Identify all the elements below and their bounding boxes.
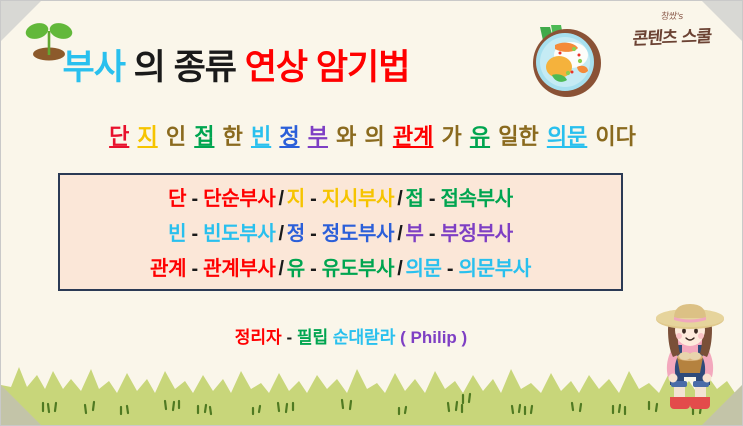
mnemonic-token-10: 관계 <box>392 124 434 149</box>
title-part-method: 연상 암기법 <box>245 48 410 87</box>
mnemonic-token-5: 빈 <box>250 124 272 149</box>
adverb-key: 관계 <box>150 258 186 280</box>
title-part-category: 의 종류 <box>134 48 236 87</box>
row-separator: / <box>276 188 287 210</box>
brand-sublabel: 창쌌's <box>615 9 728 22</box>
adverb-value: 의문부사 <box>459 258 531 280</box>
mnemonic-token-0: 단 <box>108 124 130 149</box>
mnemonic-token-7: 부 <box>307 124 329 149</box>
adverb-key: 부 <box>405 223 423 245</box>
credit-line: 정리자 - 필립 순대랃라 ( Philip ) <box>1 323 701 348</box>
mnemonic-token-2: 인 <box>165 124 187 149</box>
row-separator: / <box>394 223 405 245</box>
adverb-row: 단 - 단순부사/지 - 지시부사/접 - 접속부사 <box>60 182 621 217</box>
adverb-value: 부정부사 <box>440 223 512 245</box>
adverb-dash: - <box>186 258 203 280</box>
credit-name-first: 필립 <box>297 328 328 347</box>
adverb-dash: - <box>424 188 441 210</box>
adverb-dash: - <box>305 258 322 280</box>
slide-canvas: 창쌌's 콘텐츠 스쿨 부사 의 종류 연상 암기법 단 지 인 접 한 빈 정… <box>0 0 743 426</box>
mnemonic-token-4: 한 <box>222 124 244 149</box>
bibimbap-bowl-icon <box>522 15 604 107</box>
credit-dash: - <box>286 328 292 347</box>
adverb-value: 유도부사 <box>322 258 394 280</box>
adverb-dash: - <box>442 258 459 280</box>
credit-name-last: 순대랃라 <box>333 328 396 347</box>
mnemonic-token-13: 일한 <box>497 124 539 149</box>
mnemonic-token-14: 의문 <box>546 124 588 149</box>
corner-fold-bottom-right <box>702 385 742 425</box>
brand-mainlabel: 콘텐츠 스쿨 <box>615 21 730 50</box>
row-separator: / <box>394 258 405 280</box>
mnemonic-token-15: 이다 <box>594 124 636 149</box>
row-separator: / <box>276 258 287 280</box>
adverb-row: 빈 - 빈도부사/정 - 정도부사/부 - 부정부사 <box>60 217 621 252</box>
adverb-value: 지시부사 <box>322 188 394 210</box>
adverb-row: 관계 - 관계부사/유 - 유도부사/의문 - 의문부사 <box>60 252 621 287</box>
mnemonic-sentence: 단 지 인 접 한 빈 정 부 와 의 관계 가 유 일한 의문 이다 <box>1 119 743 151</box>
adverb-key: 접 <box>405 188 423 210</box>
row-separator: / <box>276 223 287 245</box>
adverb-value: 빈도부사 <box>203 223 275 245</box>
adverb-value: 정도부사 <box>322 223 394 245</box>
adverb-type-list-box: 단 - 단순부사/지 - 지시부사/접 - 접속부사빈 - 빈도부사/정 - 정… <box>58 173 623 291</box>
adverb-key: 지 <box>287 188 305 210</box>
adverb-value: 단순부사 <box>203 188 275 210</box>
grass-decoration <box>1 345 743 425</box>
mnemonic-token-3: 접 <box>193 124 215 149</box>
adverb-key: 단 <box>168 188 186 210</box>
adverb-dash: - <box>424 223 441 245</box>
adverb-key: 빈 <box>168 223 186 245</box>
adverb-value: 접속부사 <box>440 188 512 210</box>
mnemonic-token-12: 유 <box>469 124 491 149</box>
brand-logo: 창쌌's 콘텐츠 스쿨 <box>616 9 728 59</box>
mnemonic-token-9: 의 <box>363 124 385 149</box>
adverb-key: 정 <box>287 223 305 245</box>
adverb-dash: - <box>305 223 322 245</box>
mnemonic-token-6: 정 <box>278 124 300 149</box>
adverb-dash: - <box>305 188 322 210</box>
corner-fold-top-left <box>1 1 41 41</box>
credit-alias: ( Philip ) <box>400 328 467 347</box>
mnemonic-token-8: 와 <box>335 124 357 149</box>
adverb-key: 의문 <box>405 258 441 280</box>
adverb-dash: - <box>186 223 203 245</box>
mnemonic-token-11: 가 <box>440 124 462 149</box>
corner-fold-bottom-left <box>1 385 41 425</box>
row-separator: / <box>394 188 405 210</box>
adverb-dash: - <box>186 188 203 210</box>
adverb-value: 관계부사 <box>203 258 275 280</box>
credit-label: 정리자 <box>235 328 282 347</box>
adverb-key: 유 <box>287 258 305 280</box>
mnemonic-token-1: 지 <box>136 124 158 149</box>
